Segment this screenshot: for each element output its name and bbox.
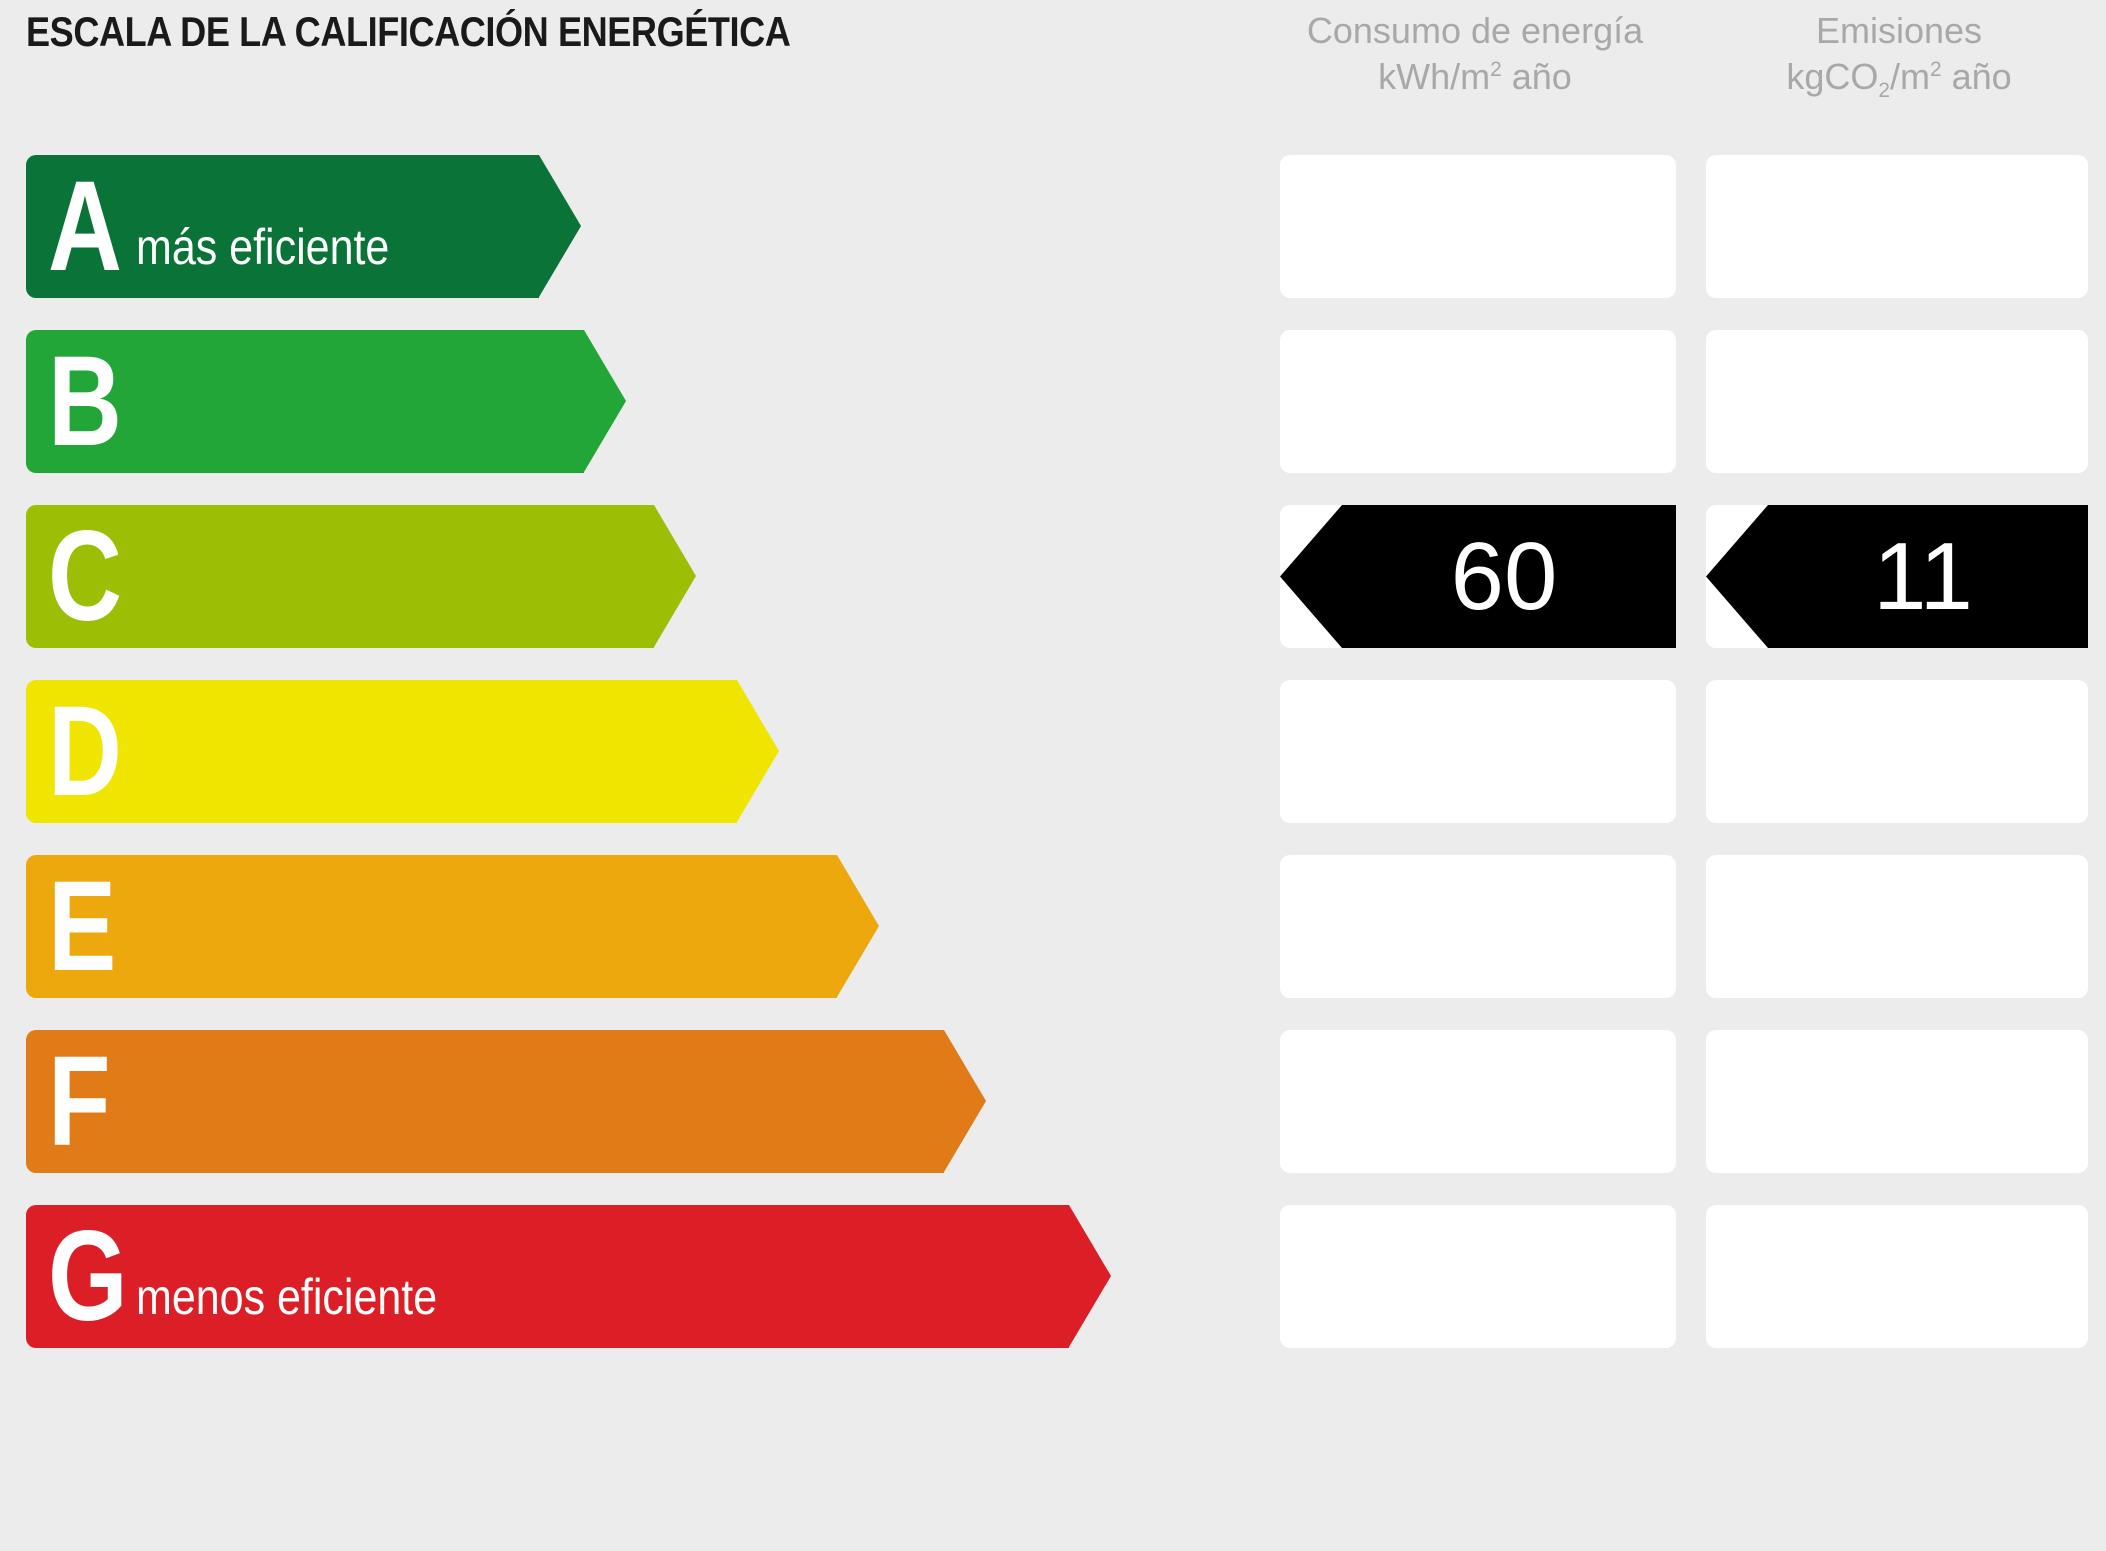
emisiones-cell-a <box>1706 155 2088 298</box>
rating-bar-g: Gmenos eficiente <box>26 1205 1111 1348</box>
rating-letter-e: E <box>48 863 116 991</box>
emisiones-cell-f <box>1706 1030 2088 1173</box>
rating-bar-f: F <box>26 1030 986 1173</box>
rating-bar-c: C <box>26 505 696 648</box>
emisiones-cell-e <box>1706 855 2088 998</box>
consumo-cell-e <box>1280 855 1676 998</box>
rating-bar-b: B <box>26 330 626 473</box>
rating-bar-arrow-tip <box>584 330 626 472</box>
column-header-emisiones: Emisiones kgCO2/m2 año <box>1710 8 2088 100</box>
rating-bar-arrow-tip <box>1069 1205 1111 1347</box>
consumo-cell-f <box>1280 1030 1676 1173</box>
rating-caption-a: más eficiente <box>136 218 389 276</box>
rating-bar-arrow-tip <box>539 155 581 297</box>
emisiones-value: 11 <box>1706 505 2088 648</box>
rating-letter-a: A <box>48 163 122 291</box>
consumo-cell-a <box>1280 155 1676 298</box>
consumo-cell-b <box>1280 330 1676 473</box>
rating-bar-a: Amás eficiente <box>26 155 581 298</box>
consumo-value: 60 <box>1280 505 1676 648</box>
emisiones-cell-d <box>1706 680 2088 823</box>
rating-letter-c: C <box>48 513 122 641</box>
column-header-emisiones-unit: kgCO2/m2 año <box>1710 54 2088 100</box>
consumo-value-marker: 60 <box>1280 505 1676 648</box>
column-header-consumo: Consumo de energía kWh/m2 año <box>1280 8 1670 100</box>
column-header-consumo-unit: kWh/m2 año <box>1280 54 1670 100</box>
rating-caption-g: menos eficiente <box>136 1268 437 1326</box>
consumo-cell-g <box>1280 1205 1676 1348</box>
rating-bar-arrow-tip <box>837 855 879 997</box>
rating-bar-e: E <box>26 855 879 998</box>
rating-bar-body <box>26 1030 944 1173</box>
rating-bar-body <box>26 680 737 823</box>
rating-letter-b: B <box>48 338 122 466</box>
rating-bar-arrow-tip <box>737 680 779 822</box>
rating-letter-f: F <box>48 1038 111 1166</box>
column-header-emisiones-line1: Emisiones <box>1710 8 2088 54</box>
rating-bar-arrow-tip <box>944 1030 986 1172</box>
emisiones-cell-g <box>1706 1205 2088 1348</box>
rating-bar-body <box>26 855 837 998</box>
energy-rating-scale: ESCALA DE LA CALIFICACIÓN ENERGÉTICA Con… <box>0 0 2106 1551</box>
emisiones-cell-b <box>1706 330 2088 473</box>
rating-letter-d: D <box>48 688 122 816</box>
column-header-consumo-line1: Consumo de energía <box>1280 8 1670 54</box>
consumo-cell-d <box>1280 680 1676 823</box>
page-title: ESCALA DE LA CALIFICACIÓN ENERGÉTICA <box>26 8 790 56</box>
rating-bar-d: D <box>26 680 779 823</box>
rating-bar-arrow-tip <box>654 505 696 647</box>
emisiones-value-marker: 11 <box>1706 505 2088 648</box>
rating-letter-g: G <box>48 1213 128 1341</box>
